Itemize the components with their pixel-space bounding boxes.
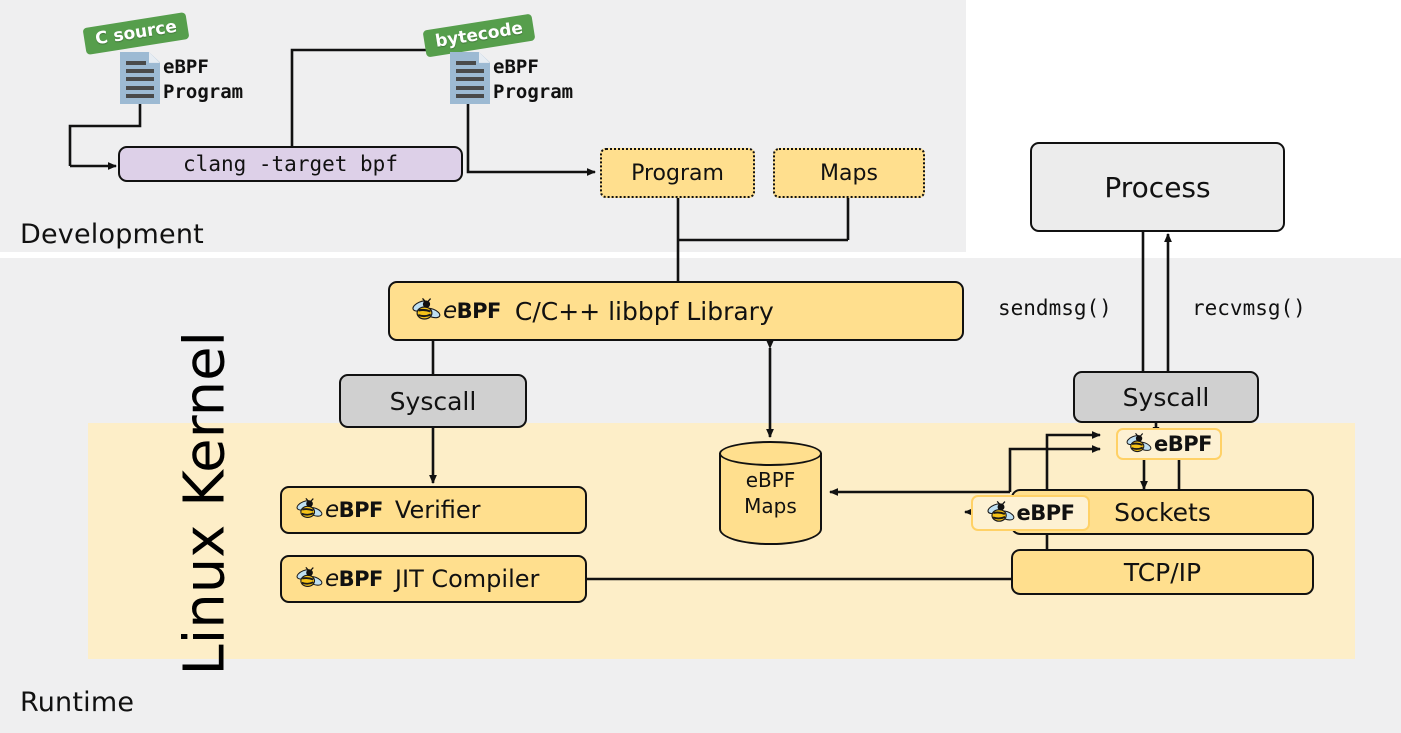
ebpf-wordmark: eBPF [443,298,501,324]
process-box[interactable]: Process [1030,142,1285,232]
ebpf-wordmark: eBPF [325,566,383,592]
ebpf-maps-label: eBPF Maps [719,467,822,519]
ebpf-badge-sockets[interactable]: eBPF [971,495,1090,531]
clang-compiler-box[interactable]: clang -target bpf [118,146,463,182]
jit-compiler-label: JIT Compiler [395,565,539,593]
bytecode-doc-line1: eBPF [493,56,539,78]
c-source-doc-line1: eBPF [163,56,209,78]
ebpf-bee-logo: eBPF [296,497,383,523]
ebpf-maps-cylinder[interactable]: eBPF Maps [719,441,822,557]
ebpf-wordmark: eBPF [1154,432,1212,456]
program-artifact-box[interactable]: Program [600,148,755,198]
ebpf-wordmark: eBPF [1017,501,1075,525]
development-label: Development [20,219,204,250]
ebpf-badge-syscall[interactable]: eBPF [1116,428,1222,460]
kernel-label: Linux Kernel [173,436,238,676]
verifier-label: Verifier [395,496,481,524]
c-source-doc-label: eBPF Program [163,55,243,105]
ebpf-bee-logo: eBPF [412,298,501,324]
bytecode-doc-line2: Program [493,81,573,103]
ebpf-wordmark: eBPF [325,497,383,523]
ebpf-bee-logo: eBPF [296,566,383,592]
syscall-box-right[interactable]: Syscall [1073,371,1259,423]
jit-compiler-box[interactable]: eBPF JIT Compiler [280,555,587,603]
document-icon [450,52,490,104]
tcpip-box[interactable]: TCP/IP [1011,549,1314,595]
diagram-canvas: Linux Kernel Development Runtime [0,0,1401,733]
libbpf-library-box[interactable]: eBPF C/C++ libbpf Library [388,281,964,341]
recvmsg-label: recvmsg() [1192,296,1306,320]
ebpf-bee-logo: eBPF [1126,432,1212,456]
ebpf-maps-line1: eBPF [746,468,796,492]
verifier-box[interactable]: eBPF Verifier [280,486,587,534]
document-icon [120,52,160,104]
syscall-box-left[interactable]: Syscall [339,374,527,428]
ebpf-maps-line2: Maps [744,494,797,518]
sendmsg-label: sendmsg() [998,296,1112,320]
ebpf-bee-logo: eBPF [987,501,1075,526]
bytecode-doc-label: eBPF Program [493,55,573,105]
runtime-label: Runtime [20,687,134,718]
c-source-doc-line2: Program [163,81,243,103]
libbpf-label: C/C++ libbpf Library [515,297,774,326]
maps-artifact-box[interactable]: Maps [773,148,925,198]
